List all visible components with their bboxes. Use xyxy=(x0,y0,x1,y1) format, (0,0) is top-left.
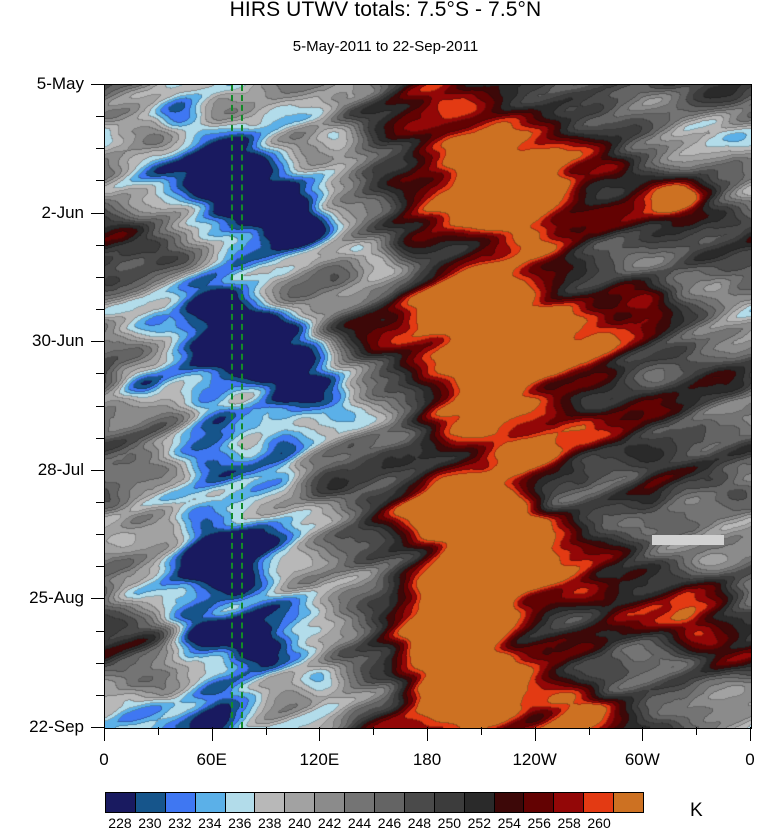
x-tick-major-6 xyxy=(750,727,751,741)
y-tick-minor-12 xyxy=(96,631,104,632)
x-tick-minor-4 xyxy=(589,727,590,735)
x-tick-major-2 xyxy=(319,727,320,741)
y-tick-label-22-sep: 22-Sep xyxy=(29,717,84,737)
colorbar-swatch-11 xyxy=(435,793,465,812)
y-tick-label-28-jul: 28-Jul xyxy=(38,460,84,480)
y-tick-minor-14 xyxy=(96,695,104,696)
hovmoller-plot-area[interactable] xyxy=(104,84,752,729)
y-tick-minor-11 xyxy=(96,566,104,567)
colorbar-tick-242: 242 xyxy=(318,815,341,831)
y-tick-minor-1 xyxy=(96,148,104,149)
hovmoller-field xyxy=(105,85,751,728)
colorbar-swatch-5 xyxy=(255,793,285,812)
colorbar-swatch-3 xyxy=(196,793,226,812)
y-tick-minor-4 xyxy=(96,277,104,278)
x-tick-major-0 xyxy=(104,727,105,741)
x-tick-label-5: 60W xyxy=(625,750,660,770)
figure-canvas: HIRS UTWV totals: 7.5°S - 7.5°N 5-May-20… xyxy=(0,0,771,834)
colorbar-tick-258: 258 xyxy=(557,815,580,831)
x-tick-minor-2 xyxy=(373,727,374,735)
colorbar-tick-260: 260 xyxy=(587,815,610,831)
y-tick-label-30-jun: 30-Jun xyxy=(32,331,84,351)
colorbar-tick-248: 248 xyxy=(408,815,431,831)
y-tick-major-5 xyxy=(91,727,104,728)
y-tick-minor-8 xyxy=(96,438,104,439)
x-tick-label-1: 60E xyxy=(197,750,227,770)
green-dashed-line-2 xyxy=(241,85,243,728)
x-tick-major-5 xyxy=(642,727,643,741)
colorbar-tick-256: 256 xyxy=(528,815,551,831)
y-tick-major-0 xyxy=(91,84,104,85)
colorbar-swatch-10 xyxy=(405,793,435,812)
colorbar-swatch-0 xyxy=(106,793,136,812)
y-tick-minor-3 xyxy=(96,245,104,246)
x-tick-label-0: 0 xyxy=(99,750,108,770)
colorbar-tick-228: 228 xyxy=(108,815,131,831)
colorbar-tick-250: 250 xyxy=(438,815,461,831)
x-tick-label-6: 0 xyxy=(745,750,754,770)
colorbar-unit-label: K xyxy=(690,800,703,822)
y-tick-minor-13 xyxy=(96,663,104,664)
colorbar-swatch-6 xyxy=(285,793,315,812)
colorbar-tick-254: 254 xyxy=(498,815,521,831)
colorbar-swatch-16 xyxy=(584,793,614,812)
colorbar-swatch-17 xyxy=(614,793,643,812)
colorbar-swatch-9 xyxy=(375,793,405,812)
y-tick-major-2 xyxy=(91,341,104,342)
colorbar-swatch-2 xyxy=(166,793,196,812)
y-tick-minor-5 xyxy=(96,309,104,310)
colorbar-swatch-12 xyxy=(465,793,495,812)
colorbar-swatch-13 xyxy=(495,793,525,812)
y-tick-minor-0 xyxy=(96,116,104,117)
green-dashed-line-1 xyxy=(231,85,233,728)
x-tick-minor-5 xyxy=(696,727,697,735)
y-tick-major-1 xyxy=(91,213,104,214)
x-tick-minor-0 xyxy=(158,727,159,735)
y-tick-label-2-jun: 2-Jun xyxy=(41,203,84,223)
colorbar-tick-232: 232 xyxy=(168,815,191,831)
y-tick-minor-6 xyxy=(96,373,104,374)
colorbar-swatch-8 xyxy=(345,793,375,812)
y-tick-minor-9 xyxy=(96,502,104,503)
colorbar-swatch-7 xyxy=(315,793,345,812)
colorbar-tick-236: 236 xyxy=(228,815,251,831)
white-scale-bar xyxy=(652,535,724,545)
colorbar-tick-238: 238 xyxy=(258,815,281,831)
page-title: HIRS UTWV totals: 7.5°S - 7.5°N xyxy=(0,0,771,22)
y-tick-label-5-may: 5-May xyxy=(37,74,84,94)
x-tick-major-1 xyxy=(212,727,213,741)
y-tick-minor-2 xyxy=(96,180,104,181)
x-tick-major-4 xyxy=(535,727,536,741)
x-tick-label-3: 180 xyxy=(413,750,441,770)
y-tick-label-25-aug: 25-Aug xyxy=(29,588,84,608)
x-tick-label-4: 120W xyxy=(512,750,556,770)
colorbar-tick-244: 244 xyxy=(348,815,371,831)
y-tick-minor-10 xyxy=(96,534,104,535)
y-tick-major-3 xyxy=(91,470,104,471)
colorbar-tick-234: 234 xyxy=(198,815,221,831)
colorbar-tick-240: 240 xyxy=(288,815,311,831)
x-tick-minor-1 xyxy=(266,727,267,735)
y-tick-minor-7 xyxy=(96,406,104,407)
colorbar-swatch-4 xyxy=(226,793,256,812)
colorbar[interactable] xyxy=(105,792,644,813)
chart-subtitle: 5-May-2011 to 22-Sep-2011 xyxy=(0,38,771,55)
x-tick-major-3 xyxy=(427,727,428,741)
x-tick-label-2: 120E xyxy=(299,750,339,770)
y-tick-major-4 xyxy=(91,598,104,599)
colorbar-tick-230: 230 xyxy=(138,815,161,831)
colorbar-tick-246: 246 xyxy=(378,815,401,831)
colorbar-swatch-1 xyxy=(136,793,166,812)
x-tick-minor-3 xyxy=(481,727,482,735)
colorbar-swatch-15 xyxy=(554,793,584,812)
colorbar-swatch-14 xyxy=(524,793,554,812)
colorbar-tick-252: 252 xyxy=(468,815,491,831)
